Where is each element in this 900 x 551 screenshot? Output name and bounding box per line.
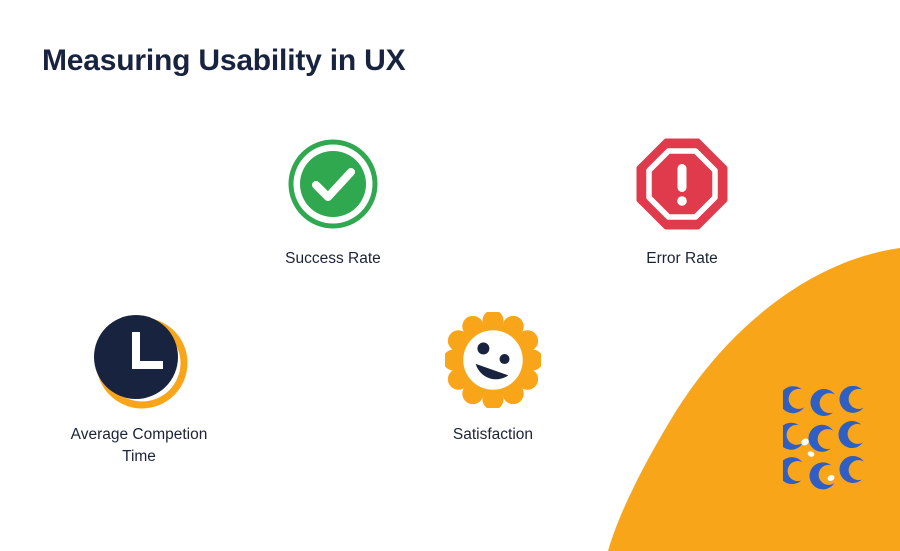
metric-label-line-1: Average Competion [71,426,208,443]
icon-container [393,308,593,412]
icon-container [39,308,239,412]
metric-label: Error Rate [582,248,782,270]
page-title: Measuring Usability in UX [42,44,405,78]
octagon-exclamation-icon [636,138,728,230]
icon-container [582,132,782,236]
check-circle-icon [288,139,378,229]
metric-label: Average Competion Time [39,424,239,469]
slide-canvas: Measuring Usability in UX Success Rate E… [0,0,900,551]
smiley-badge-icon [445,312,541,408]
metric-label-line-2: Time [122,448,156,465]
icon-container [233,132,433,236]
metric-success-rate: Success Rate [233,132,433,270]
blue-crescent-dot-grid [783,386,873,490]
metric-average-competion-time: Average Competion Time [39,308,239,469]
metric-satisfaction: Satisfaction [393,308,593,446]
metric-error-rate: Error Rate [582,132,782,270]
metric-label: Success Rate [233,248,433,270]
metric-label: Satisfaction [393,424,593,446]
clock-icon [89,310,189,410]
